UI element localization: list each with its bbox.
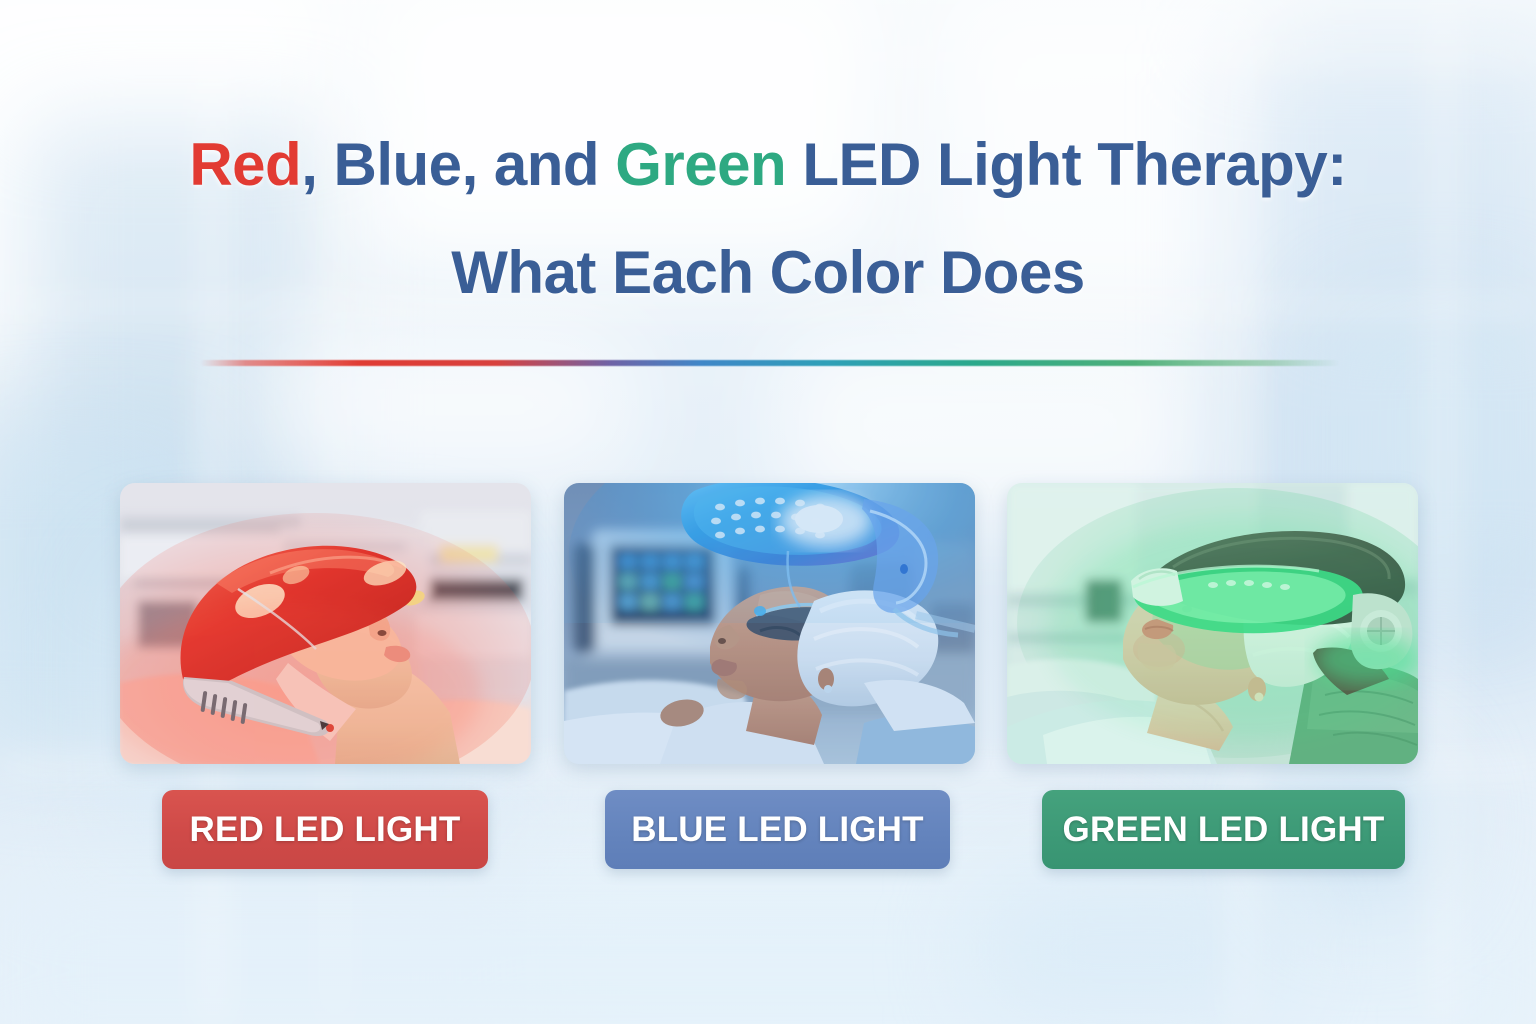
photo-card-green[interactable]	[1007, 483, 1418, 764]
photo-card-red[interactable]	[120, 483, 531, 764]
badge-red-led-light[interactable]: RED LED LIGHT	[162, 790, 488, 869]
blue-led-therapy-photo	[564, 483, 975, 764]
title-punct-2: , and	[462, 131, 616, 198]
title-word-blue: Blue	[334, 131, 462, 198]
gradient-divider	[200, 360, 1340, 366]
photo-card-blue[interactable]	[564, 483, 975, 764]
infographic-canvas: Red, Blue, and Green LED Light Therapy: …	[0, 0, 1536, 1024]
title-word-red: Red	[189, 131, 301, 198]
badge-blue-led-light[interactable]: BLUE LED LIGHT	[605, 790, 950, 869]
green-led-therapy-photo	[1007, 483, 1418, 764]
page-title-line-1: Red, Blue, and Green LED Light Therapy:	[0, 134, 1536, 196]
badge-green-led-light[interactable]: GREEN LED LIGHT	[1042, 790, 1405, 869]
title-punct-1: ,	[301, 131, 333, 198]
title-word-green: Green	[615, 131, 786, 198]
page-title-line-2: What Each Color Does	[0, 238, 1536, 307]
badge-row: RED LED LIGHT BLUE LED LIGHT GREEN LED L…	[0, 790, 1536, 870]
card-row	[120, 483, 1418, 764]
red-led-therapy-photo	[120, 483, 531, 764]
title-tail: LED Light Therapy:	[786, 131, 1347, 198]
